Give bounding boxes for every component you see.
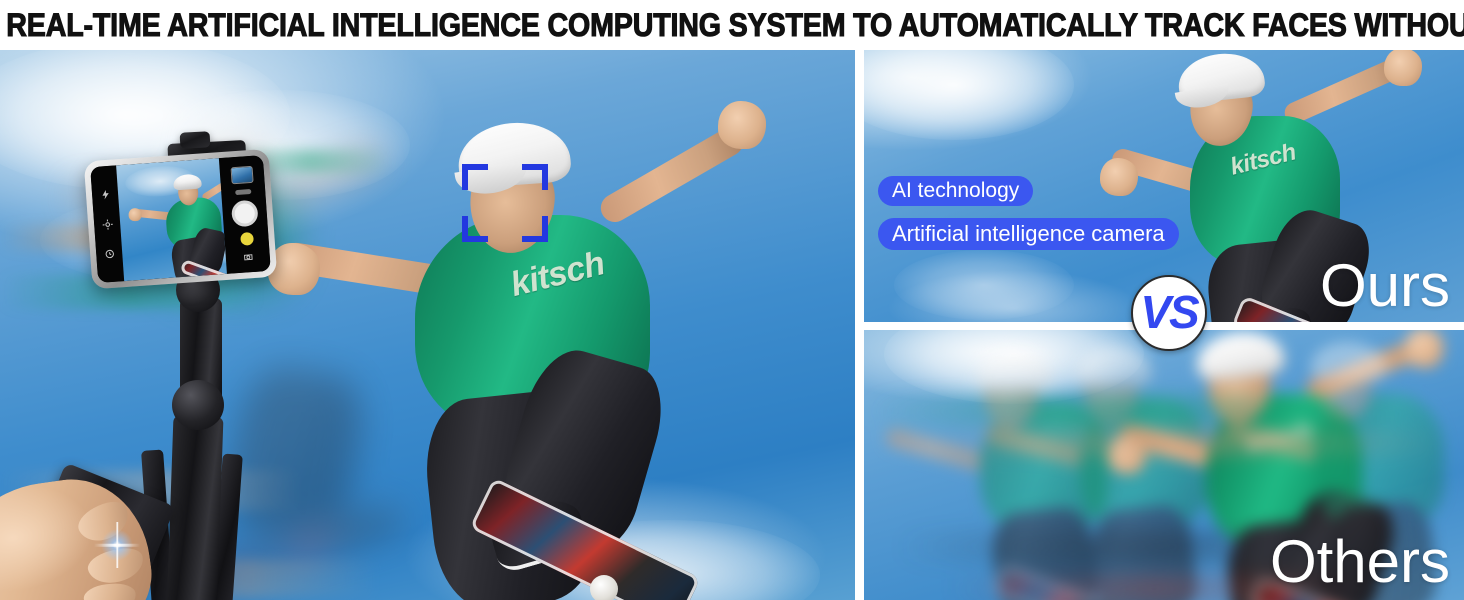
hand-left — [268, 243, 320, 295]
hand-right — [718, 101, 766, 149]
settings-icon[interactable] — [101, 218, 113, 230]
page-title: REAL-TIME ARTIFICIAL INTELLIGENCE COMPUT… — [0, 0, 1310, 50]
timer-icon[interactable] — [103, 248, 115, 260]
record-indicator[interactable] — [240, 232, 254, 246]
camera-right-toolbar[interactable] — [219, 155, 271, 274]
tripod-shaft — [167, 415, 224, 600]
caption-others: Others — [1270, 532, 1450, 592]
panel-others-blurred: kitsch Others — [864, 330, 1464, 600]
switch-camera-icon[interactable] — [242, 251, 254, 263]
vs-badge-label: VS — [1140, 289, 1197, 335]
phone-screen[interactable] — [90, 155, 271, 283]
bracket-corner-bottom-right — [522, 216, 548, 242]
badge-ai-camera: Artificial intelligence camera — [878, 218, 1179, 250]
product-infographic: REAL-TIME ARTIFICIAL INTELLIGENCE COMPUT… — [0, 0, 1464, 600]
bracket-corner-top-left — [462, 164, 488, 190]
vs-badge: VS — [1131, 275, 1207, 351]
hand-left — [1100, 158, 1138, 196]
mode-selector[interactable] — [235, 189, 251, 195]
bracket-corner-bottom-left — [462, 216, 488, 242]
hand-right — [1384, 50, 1422, 86]
shutter-button[interactable] — [231, 200, 259, 228]
camera-live-preview — [116, 158, 227, 281]
caption-ours: Ours — [1320, 256, 1450, 316]
badge-ai-technology: AI technology — [878, 176, 1033, 206]
panel-main-photo: kitsch — [0, 50, 855, 600]
speed-streak — [864, 396, 1424, 426]
speed-streak — [924, 430, 1444, 456]
smartphone-device[interactable] — [84, 149, 277, 290]
bracket-corner-top-right — [522, 164, 548, 190]
face-tracking-brackets — [462, 164, 548, 242]
flash-icon[interactable] — [99, 189, 111, 201]
preview-skateboarder — [129, 169, 227, 281]
led-flash-indicator — [100, 528, 134, 562]
gallery-thumbnail[interactable] — [231, 166, 254, 184]
gimbal-clamp-top — [180, 131, 211, 149]
gimbal-tilt-joint — [172, 380, 224, 430]
skateboard-wheel — [590, 575, 618, 600]
